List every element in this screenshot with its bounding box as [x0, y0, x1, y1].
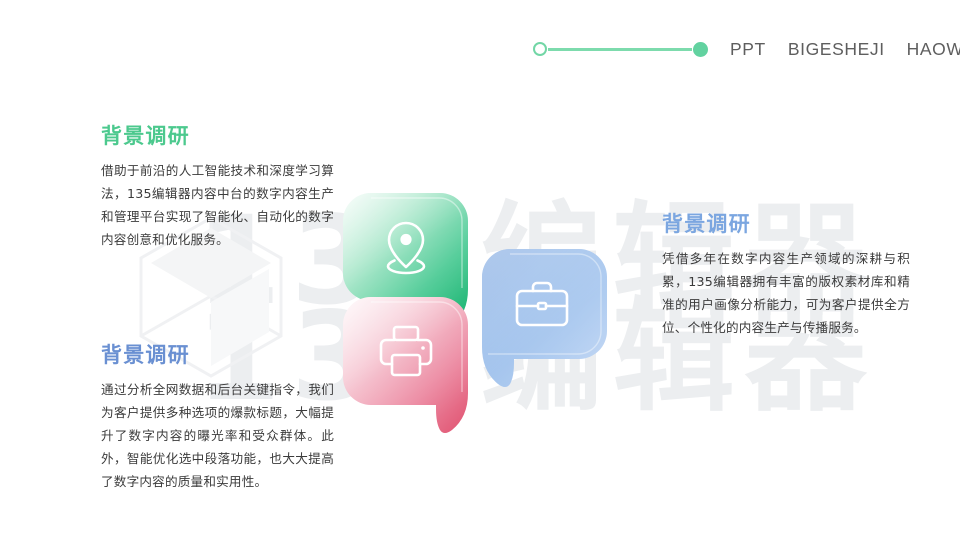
circle-filled-icon [693, 42, 708, 57]
circle-outline-icon [533, 42, 547, 56]
header-word-haowu: HAOWU [907, 39, 960, 60]
bubble-pink[interactable] [343, 297, 468, 437]
column-top-left: 背景调研 借助于前沿的人工智能技术和深度学习算法，135编辑器内容中台的数字内容… [101, 126, 334, 252]
body-top-left: 借助于前沿的人工智能技术和深度学习算法，135编辑器内容中台的数字内容生产和管理… [101, 160, 334, 252]
header-word-ppt: PPT [730, 39, 766, 60]
body-bottom-left: 通过分析全网数据和后台关键指令，我们为客户提供多种选项的爆款标题，大幅提升了数字… [101, 379, 334, 494]
heading-right: 背景调研 [662, 214, 910, 235]
body-right: 凭借多年在数字内容生产领域的深耕与积累，135编辑器拥有丰富的版权素材库和精准的… [662, 248, 910, 340]
header-words: PPT BIGESHEJI HAOWU [730, 39, 960, 60]
header-marker: PPT BIGESHEJI HAOWU [533, 36, 960, 62]
heading-top-left: 背景调研 [101, 126, 334, 147]
column-right: 背景调研 凭借多年在数字内容生产领域的深耕与积累，135编辑器拥有丰富的版权素材… [662, 214, 910, 340]
bubble-blue[interactable] [477, 249, 607, 394]
header-word-bigesheji: BIGESHEJI [788, 39, 885, 60]
horizontal-line-icon [548, 48, 692, 51]
column-bottom-left: 背景调研 通过分析全网数据和后台关键指令，我们为客户提供多种选项的爆款标题，大幅… [101, 345, 334, 494]
heading-bottom-left: 背景调研 [101, 345, 334, 366]
slide-canvas: 135编辑器 135编辑器 PPT BIGESHEJI HAOWU [0, 0, 960, 540]
